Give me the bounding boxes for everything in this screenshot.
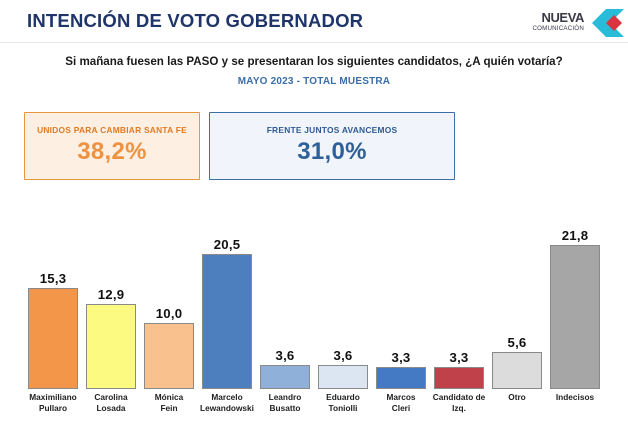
coalition-value: 38,2% [25, 138, 199, 166]
bar-column: 15,3 [26, 208, 80, 389]
brand-logo: NUEVA COMUNICACIÓN [514, 6, 620, 40]
bar-column: 3,6 [316, 208, 370, 389]
bar-category-label: LeandroBusatto [256, 392, 314, 413]
survey-question: Si mañana fuesen las PASO y se presentar… [0, 55, 628, 68]
bar-column: 3,6 [258, 208, 312, 389]
bar-column: 5,6 [490, 208, 544, 389]
chart-plot-area: 15,312,910,020,53,63,63,33,35,621,8 [24, 208, 604, 389]
bar-column: 3,3 [432, 208, 486, 389]
bar [202, 254, 252, 389]
bar-value-label: 5,6 [490, 335, 544, 350]
bar-category-label: MarceloLewandowski [198, 392, 256, 413]
bar-column: 10,0 [142, 208, 196, 389]
bar-value-label: 3,3 [374, 350, 428, 365]
bar-value-label: 3,6 [316, 348, 370, 363]
bar [376, 367, 426, 389]
arrow-diamond-icon [584, 9, 624, 37]
slide-header: INTENCIÓN DE VOTO GOBERNADOR NUEVA COMUN… [0, 0, 628, 42]
coalition-summary: UNIDOS PARA CAMBIAR SANTA FE 38,2% FRENT… [0, 112, 628, 184]
bar [492, 352, 542, 389]
bar-value-label: 12,9 [84, 287, 138, 302]
bar [86, 304, 136, 389]
bar-value-label: 20,5 [200, 237, 254, 252]
bar-category-label: MaximilianoPullaro [24, 392, 82, 413]
bar-category-label: MónicaFein [140, 392, 198, 413]
bar-value-label: 3,3 [432, 350, 486, 365]
bar-column: 21,8 [548, 208, 602, 389]
bar-category-label: CarolinaLosada [82, 392, 140, 413]
coalition-card-frente: FRENTE JUNTOS AVANCEMOS 31,0% [209, 112, 455, 180]
bar-category-label: MarcosCleri [372, 392, 430, 413]
bar [550, 245, 600, 389]
coalition-value: 31,0% [210, 138, 454, 166]
bar [318, 365, 368, 389]
coalition-card-unidos: UNIDOS PARA CAMBIAR SANTA FE 38,2% [24, 112, 200, 180]
coalition-name: UNIDOS PARA CAMBIAR SANTA FE [25, 125, 199, 135]
bar [260, 365, 310, 389]
bar-category-label: Otro [488, 392, 546, 403]
bar-value-label: 15,3 [26, 271, 80, 286]
coalition-name: FRENTE JUNTOS AVANCEMOS [210, 125, 454, 135]
bar [144, 323, 194, 389]
vote-intention-bar-chart: 15,312,910,020,53,63,63,33,35,621,8 Maxi… [0, 208, 628, 423]
brand-tagline: COMUNICACIÓN [532, 25, 584, 33]
bar-category-label: Indecisos [546, 392, 604, 403]
bar-value-label: 3,6 [258, 348, 312, 363]
header-divider [0, 42, 628, 43]
bar-category-label: EduardoToniolli [314, 392, 372, 413]
brand-logo-text: NUEVA COMUNICACIÓN [532, 11, 584, 33]
bar-column: 20,5 [200, 208, 254, 389]
brand-name: NUEVA [532, 11, 584, 24]
survey-period: MAYO 2023 - TOTAL MUESTRA [0, 76, 628, 87]
page-title: INTENCIÓN DE VOTO GOBERNADOR [27, 10, 363, 32]
bar [28, 288, 78, 389]
bar-column: 3,3 [374, 208, 428, 389]
bar [434, 367, 484, 389]
bar-category-label: Candidato deIzq. [430, 392, 488, 413]
bar-value-label: 21,8 [548, 228, 602, 243]
slide-root: INTENCIÓN DE VOTO GOBERNADOR NUEVA COMUN… [0, 0, 628, 423]
bar-column: 12,9 [84, 208, 138, 389]
chart-category-axis: MaximilianoPullaroCarolinaLosadaMónicaFe… [24, 392, 604, 423]
bar-value-label: 10,0 [142, 306, 196, 321]
